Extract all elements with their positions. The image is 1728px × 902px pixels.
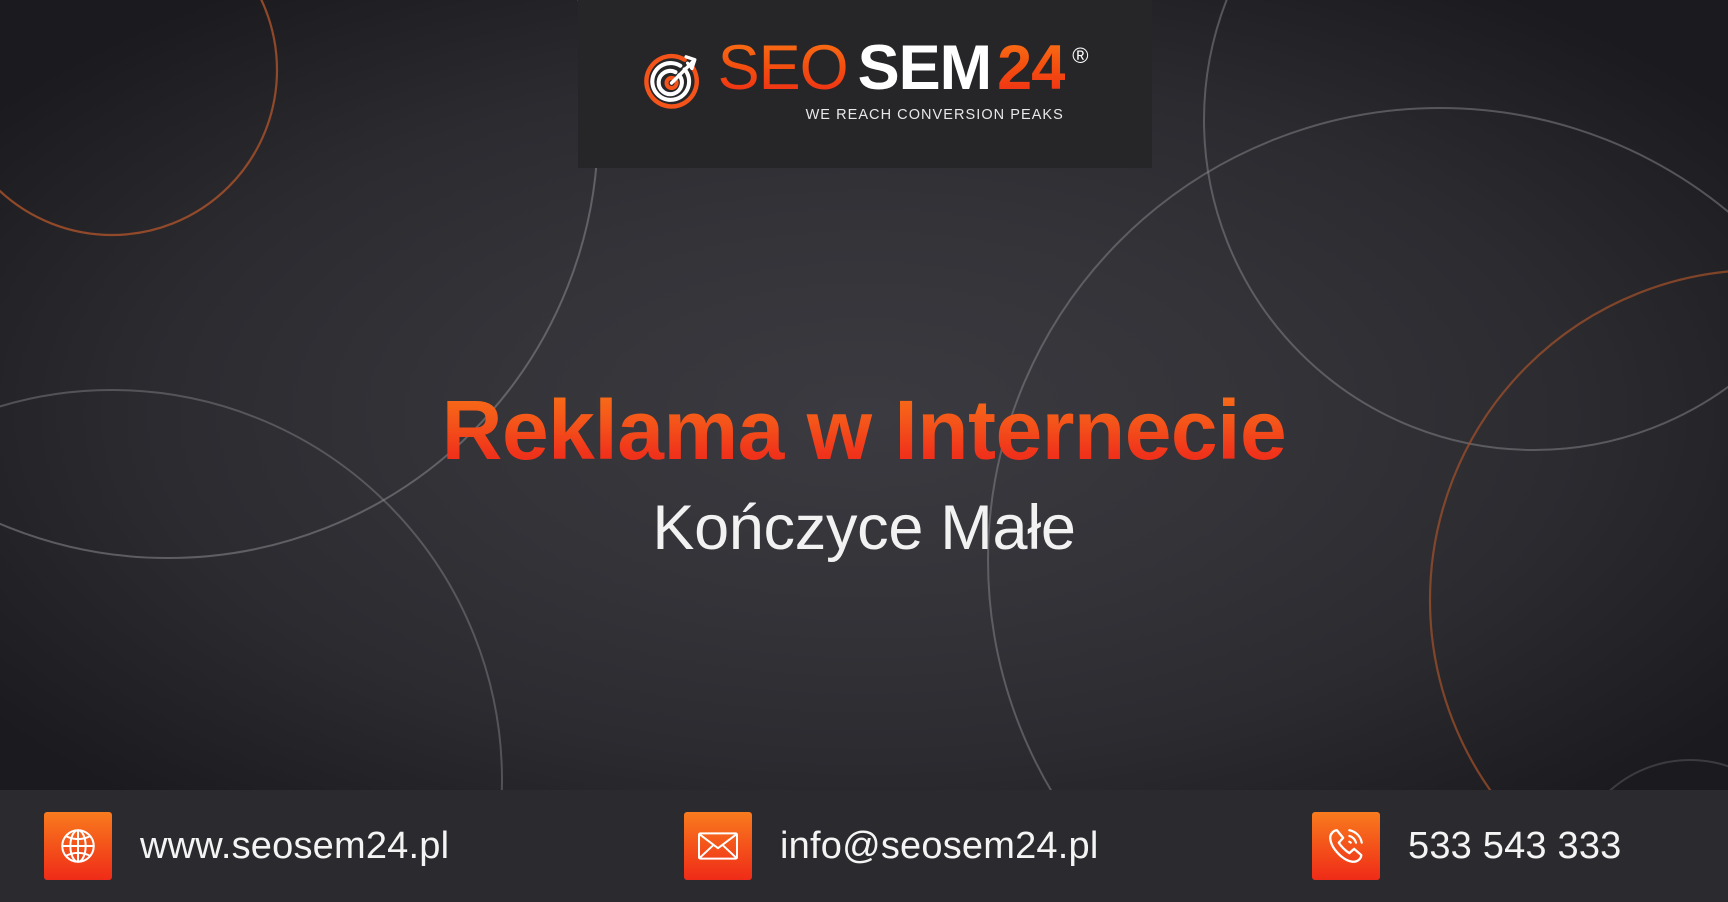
logo-tagline: WE REACH CONVERSION PEAKS [806,107,1089,123]
email-address-text: info@seosem24.pl [780,825,1099,868]
website-url-text: www.seosem24.pl [140,825,449,868]
registered-trademark-icon: ® [1072,45,1088,67]
promo-banner: SEO SEM 24 ® WE REACH CONVERSION PEAKS R… [0,0,1728,902]
phone-call-icon [1312,812,1380,880]
contact-item-website[interactable]: www.seosem24.pl [44,812,449,880]
logo-text-sem: SEM [858,37,992,100]
page-subtitle: Kończyce Małe [0,492,1728,564]
target-bullseye-arrow-icon [642,51,704,113]
contact-item-email[interactable]: info@seosem24.pl [684,812,1099,880]
logo-panel: SEO SEM 24 ® WE REACH CONVERSION PEAKS [578,0,1152,168]
contact-item-phone[interactable]: 533 543 333 [1312,812,1622,880]
logo-text-seo: SEO [718,37,848,100]
contact-bar: www.seosem24.pl info@seosem24.pl [0,790,1728,902]
page-title: Reklama w Internecie [0,386,1728,474]
phone-number-text: 533 543 333 [1408,825,1622,868]
globe-icon [44,812,112,880]
envelope-icon [684,812,752,880]
logo-wordmark: SEO SEM 24 ® WE REACH CONVERSION PEAKS [718,37,1089,123]
logo-text-24: 24 [997,37,1065,100]
brand-logo[interactable]: SEO SEM 24 ® WE REACH CONVERSION PEAKS [642,37,1089,123]
